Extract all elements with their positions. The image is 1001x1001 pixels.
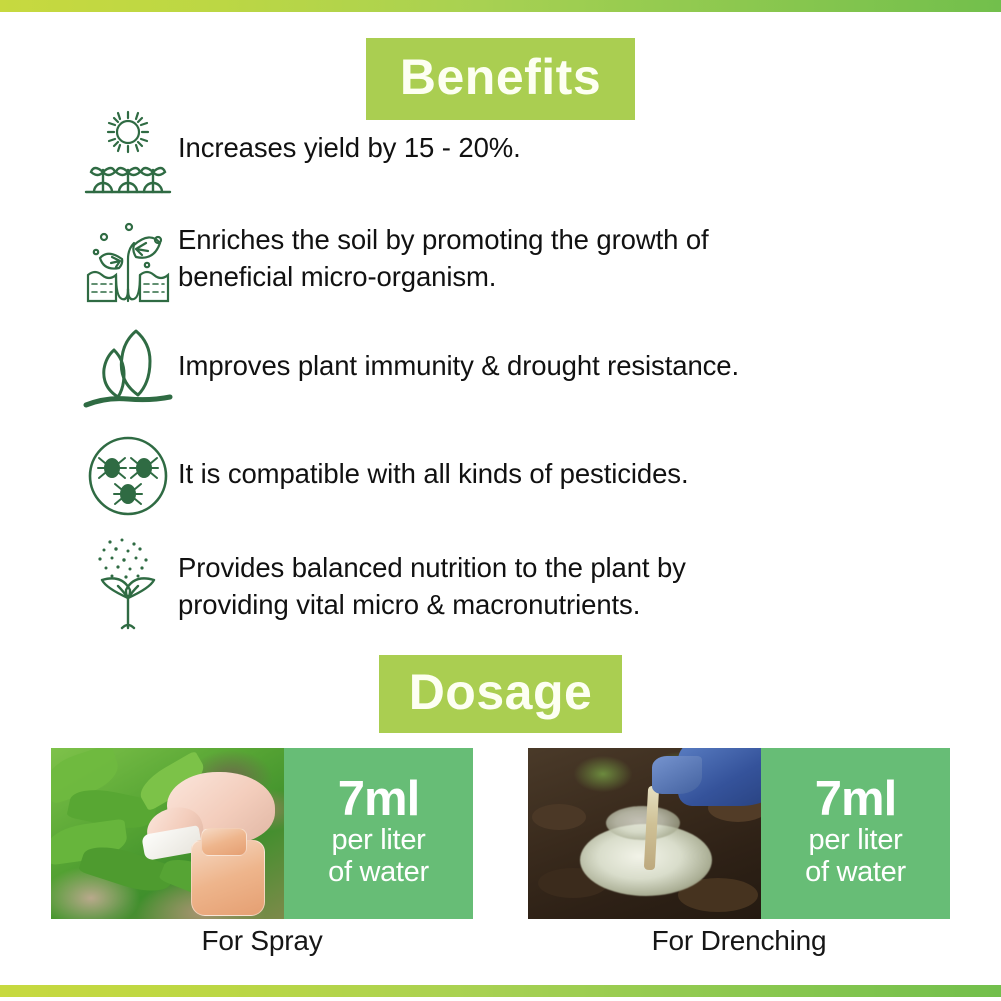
benefit-item: Enriches the soil by promoting the growt… <box>78 214 938 306</box>
dosage-amount: 7ml <box>815 775 896 823</box>
dosage-title-wrap: Dosage <box>0 655 1001 733</box>
benefit-text: Improves plant immunity & drought resist… <box>178 322 739 385</box>
dosage-title: Dosage <box>379 655 623 733</box>
bottom-accent-stripe <box>0 985 1001 997</box>
benefit-text: It is compatible with all kinds of pesti… <box>178 430 689 493</box>
benefit-item: Improves plant immunity & drought resist… <box>78 322 938 414</box>
benefit-item: Increases yield by 15 - 20%. <box>78 106 938 198</box>
benefit-item: Provides balanced nutrition to the plant… <box>78 538 938 630</box>
plant-soil-microbes-icon <box>78 214 178 306</box>
dosage-per-line1: per liter <box>809 825 903 856</box>
two-leaves-ground-icon <box>78 322 178 414</box>
top-accent-stripe <box>0 0 1001 12</box>
benefit-text: Enriches the soil by promoting the growt… <box>178 214 709 295</box>
dosage-per-line2: of water <box>328 857 429 888</box>
caption-drenching: For Drenching <box>528 925 950 957</box>
dosage-captions: For Spray For Drenching <box>0 925 1001 957</box>
bucket-watering-soil-photo <box>528 748 761 919</box>
dosage-amount: 7ml <box>338 775 419 823</box>
dosage-card-spray: 7ml per liter of water <box>51 748 473 919</box>
benefit-item: It is compatible with all kinds of pesti… <box>78 430 938 522</box>
dosage-amount-panel: 7ml per liter of water <box>761 748 950 919</box>
benefits-list: Increases yield by 15 - 20%. <box>78 106 938 646</box>
benefit-text: Provides balanced nutrition to the plant… <box>178 538 686 623</box>
dosage-cards: 7ml per liter of water 7ml per liter of <box>0 748 1001 919</box>
dosage-per-line2: of water <box>805 857 906 888</box>
nutrient-sprinkle-plant-icon <box>78 538 178 630</box>
spray-bottle-on-plants-photo <box>51 748 284 919</box>
dosage-per-line1: per liter <box>332 825 426 856</box>
sun-seedlings-icon <box>78 106 178 198</box>
dosage-card-drenching: 7ml per liter of water <box>528 748 950 919</box>
dosage-amount-panel: 7ml per liter of water <box>284 748 473 919</box>
caption-spray: For Spray <box>51 925 473 957</box>
benefit-text: Increases yield by 15 - 20%. <box>178 106 521 167</box>
infographic-page: Benefits <box>0 0 1001 1001</box>
insects-circle-icon <box>78 430 178 522</box>
